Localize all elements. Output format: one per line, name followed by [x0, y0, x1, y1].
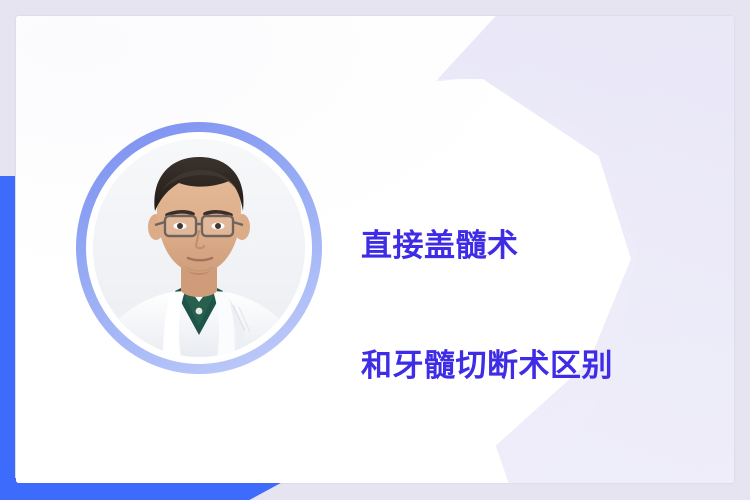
- doctor-info: 直接盖髓术 和牙髓切断术区别 付兆臣副主任医师 哈尔滨医科大学附属第二医院 口腔…: [361, 146, 721, 483]
- avatar: [76, 122, 322, 374]
- page-title-line-1: 直接盖髓术: [361, 226, 721, 266]
- portrait-illustration: [93, 139, 305, 357]
- portrait-photo: [93, 139, 305, 357]
- accent-bar-left: [0, 176, 15, 486]
- page-title: 直接盖髓术 和牙髓切断术区别: [361, 146, 721, 466]
- doctor-card: 直接盖髓术 和牙髓切断术区别 付兆臣副主任医师 哈尔滨医科大学附属第二医院 口腔…: [16, 16, 734, 483]
- page-title-line-2: 和牙髓切断术区别: [361, 346, 721, 386]
- poster-canvas: 直接盖髓术 和牙髓切断术区别 付兆臣副主任医师 哈尔滨医科大学附属第二医院 口腔…: [0, 0, 750, 500]
